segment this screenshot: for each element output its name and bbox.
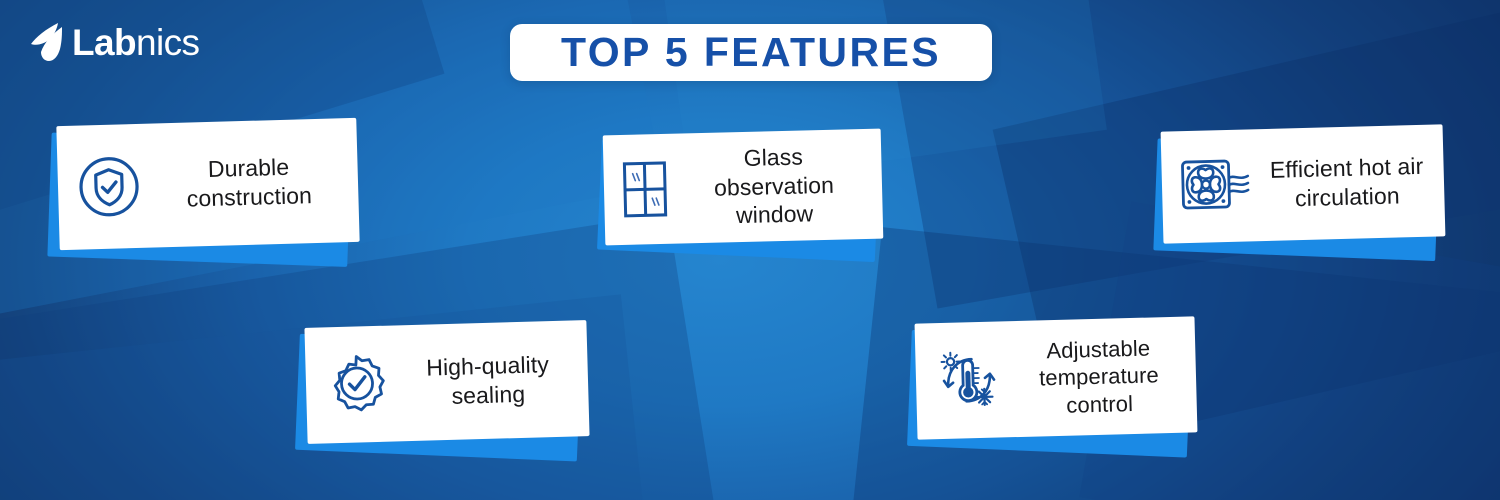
card-surface: Adjustable temperature control <box>915 316 1198 439</box>
card-surface: High-quality sealing <box>304 320 589 444</box>
card-surface: Efficient hot air circulation <box>1161 124 1446 243</box>
labnics-swoosh-logo-icon <box>28 20 68 64</box>
card-surface: Durable construction <box>56 118 359 250</box>
brand-logo: Labnics <box>28 20 199 64</box>
window-pane-icon <box>621 160 668 219</box>
feature-card-adjustable-temperature-control[interactable]: Adjustable temperature control <box>916 320 1196 436</box>
feature-label: High-quality sealing <box>403 350 573 412</box>
shield-check-icon <box>75 153 143 221</box>
card-surface: Glass observation window <box>603 129 884 246</box>
feature-card-high-quality-sealing[interactable]: High-quality sealing <box>306 324 588 440</box>
brand-name-bold: Lab <box>72 22 136 63</box>
feature-card-glass-observation-window[interactable]: Glass observation window <box>604 132 882 242</box>
brand-wordmark: Labnics <box>72 24 199 61</box>
feature-card-durable-construction[interactable]: Durable construction <box>58 122 358 246</box>
brand-name-light: nics <box>136 22 199 63</box>
feature-card-efficient-hot-air-circulation[interactable]: Efficient hot air circulation <box>1162 128 1444 240</box>
feature-label: Efficient hot air circulation <box>1265 152 1428 213</box>
page-title-pill: TOP 5 FEATURES <box>510 24 992 81</box>
feature-label: Adjustable temperature control <box>1017 334 1181 420</box>
feature-label: Durable construction <box>155 152 343 214</box>
thermometer-sun-snowflake-icon <box>933 346 1005 414</box>
page-title: TOP 5 FEATURES <box>561 32 941 73</box>
feature-label: Glass observation window <box>681 141 867 231</box>
fan-airflow-icon <box>1179 155 1253 217</box>
seal-badge-check-icon <box>323 351 391 419</box>
infographic-banner: Labnics TOP 5 FEATURES Durable construct… <box>0 0 1500 500</box>
